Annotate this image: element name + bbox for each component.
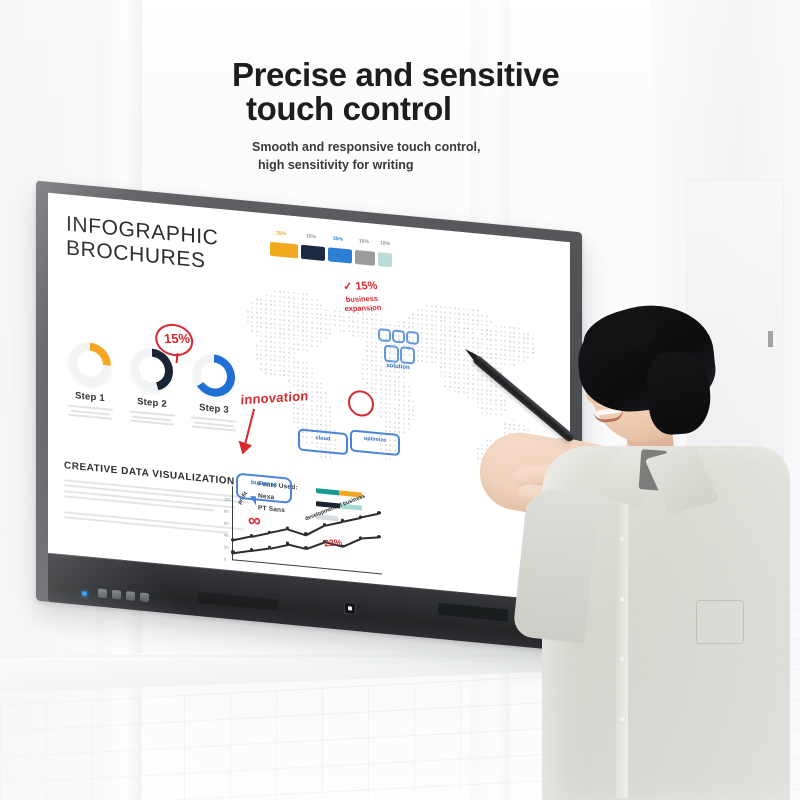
shirt-button-3: [619, 656, 625, 662]
power-led-indicator: [82, 591, 87, 596]
chart-speech-bubble: business: [236, 473, 292, 504]
cloud-sharing-line-1: cloud: [300, 434, 346, 444]
chart-line-segment: [269, 528, 288, 533]
chart-y-tick: 40: [224, 532, 228, 537]
chart-line-segment: [342, 538, 361, 548]
headline-line-1: Precise and sensitive: [232, 58, 652, 92]
chart-y-tick: 20: [224, 544, 228, 549]
chart-line-segment: [306, 541, 325, 549]
step-item-2: Step 2: [124, 346, 180, 429]
business-label-2: expansion: [344, 303, 382, 313]
chart-line-segment: [251, 532, 270, 537]
step-item-1: Step 1: [62, 340, 118, 423]
chart-line-segment: [233, 536, 252, 541]
chart-data-point: [341, 519, 344, 522]
legend-chip-3[interactable]: [328, 247, 352, 263]
donut-chart-1: [69, 341, 111, 387]
chart-line-segment: [361, 513, 380, 518]
chip-percent-5: 10%: [380, 240, 390, 247]
shirt-button-4: [619, 716, 625, 722]
shirt-placket: [616, 498, 628, 798]
step-label-3: Step 3: [186, 401, 242, 417]
optimize-budget-tag: optimize: [350, 429, 400, 456]
business-check-text: ✓ 15%: [343, 280, 379, 293]
step-label-2: Step 2: [124, 395, 180, 411]
infinity-symbol-icon: ∞: [247, 510, 261, 531]
chip-percent-3: 35%: [333, 236, 343, 243]
chart-y-tick: 60: [224, 520, 228, 525]
chart-line-segment: [324, 521, 343, 526]
step-item-3: Step 3: [186, 352, 242, 435]
chart-y-tick: 100: [224, 496, 231, 502]
chip-percent-1: 25%: [276, 230, 286, 237]
page-title: Precise and sensitive touch control: [232, 58, 652, 126]
chart-data-point: [304, 532, 307, 535]
chart-data-point: [323, 523, 326, 526]
step-label-1: Step 1: [62, 389, 118, 405]
speaker-grille: [198, 592, 278, 611]
step-text-1: [62, 404, 118, 421]
chart-data-point: [231, 538, 234, 541]
flow-node-5: [400, 346, 415, 364]
shirt-button-1: [619, 536, 625, 542]
donut-chart-3: [193, 352, 235, 398]
chart-line-segment: [288, 528, 307, 535]
chip-percent-2: 15%: [306, 233, 316, 240]
chart-y-tick: 80: [224, 508, 228, 513]
map-badge-annotation: 15%: [163, 331, 190, 346]
legend-chip-1[interactable]: [270, 242, 298, 259]
headline-line-2: touch control: [246, 92, 652, 126]
chart-data-point: [304, 546, 307, 549]
chart-line-segment: [306, 525, 325, 536]
chart-y-axis: [232, 486, 233, 560]
chart-line-segment: [251, 547, 270, 551]
control-button-1[interactable]: [98, 588, 107, 598]
legend-chip-row[interactable]: 25% 15% 35% 15% 10%: [270, 230, 390, 271]
control-button-4[interactable]: [140, 592, 149, 602]
chart-data-point: [377, 511, 380, 514]
chart-y-tick: 0: [224, 556, 226, 561]
shirt-pocket: [696, 600, 744, 644]
subtitle-line-1: Smooth and responsive touch control,: [252, 140, 481, 154]
legend-chip-5[interactable]: [378, 252, 392, 267]
step-text-2: [124, 410, 180, 427]
step-donut-group: Step 1 Step 2 Step 3: [62, 340, 252, 468]
chart-data-point: [231, 551, 234, 554]
slide-title: INFOGRAPHIC BROCHURES: [66, 212, 218, 274]
chart-data-point: [268, 530, 271, 533]
chart-line-segment: [233, 550, 252, 554]
flow-node-4: [384, 345, 399, 363]
ir-sensor-icon: [344, 602, 356, 615]
legend-chip-4[interactable]: [355, 250, 375, 266]
step-text-3: [186, 416, 242, 433]
chart-line-segment: [342, 517, 361, 522]
shirt-button-2: [619, 596, 625, 602]
business-expansion-annotation: ✓ 15% business expansion: [341, 280, 382, 314]
chart-data-point: [377, 535, 380, 538]
legend-chip-2[interactable]: [301, 245, 325, 261]
flow-node-3: [406, 331, 419, 345]
growth-percent-annotation: 22%: [323, 537, 342, 548]
flow-node-1: [378, 328, 391, 342]
control-button-2[interactable]: [112, 590, 121, 600]
chart-line-segment: [361, 537, 379, 540]
person-figure: [520, 300, 800, 800]
control-button-3[interactable]: [126, 591, 135, 601]
chart-data-point: [359, 515, 362, 518]
banner-stage: Precise and sensitive touch control Smoo…: [0, 0, 800, 800]
flow-node-2: [392, 329, 405, 343]
chip-percent-4: 15%: [359, 238, 369, 245]
chart-line-segment: [288, 544, 306, 550]
cloud-sharing-tag: cloud: [298, 428, 348, 455]
chart-data-point: [286, 542, 289, 545]
optimize-budget-line-1: optimize: [352, 435, 398, 445]
chart-bubble-line-1: business: [238, 479, 290, 491]
